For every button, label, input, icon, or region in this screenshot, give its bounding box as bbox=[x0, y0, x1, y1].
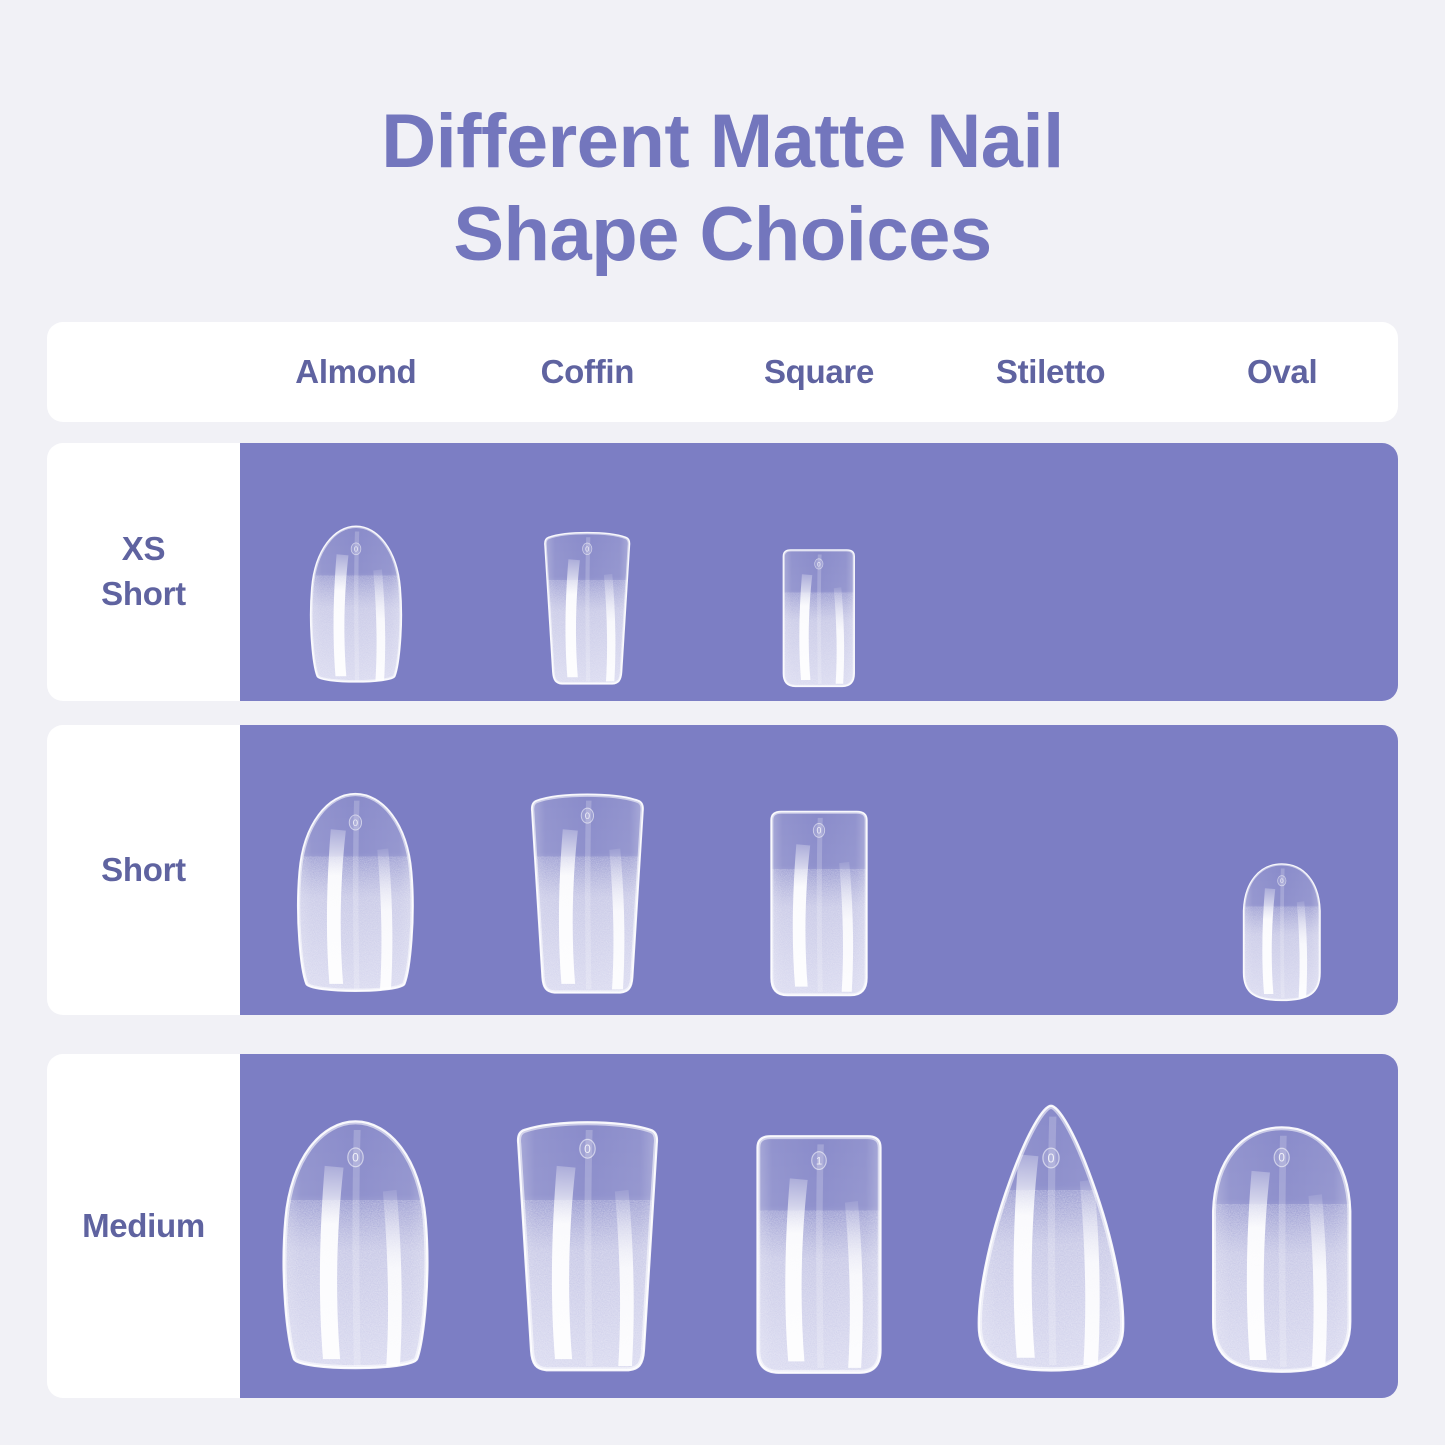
row-panel-medium: 0 bbox=[240, 1054, 1398, 1398]
cell-xs-short-almond[interactable]: 0 bbox=[240, 443, 472, 701]
nail-tip-oval[interactable]: 0 bbox=[1235, 862, 1329, 1002]
svg-text:0: 0 bbox=[354, 545, 358, 554]
svg-text:0: 0 bbox=[817, 826, 822, 836]
nail-tip-graphic-square: 0 bbox=[772, 548, 866, 688]
size-row-xs-short: XS Short bbox=[47, 443, 1398, 701]
cell-short-stiletto bbox=[935, 725, 1167, 1015]
nail-tip-graphic-coffin: 0 bbox=[519, 791, 656, 996]
nail-tip-graphic-oval: 0 bbox=[1235, 862, 1329, 1002]
nail-size-marker: 0 bbox=[813, 823, 824, 837]
cell-medium-coffin[interactable]: 0 bbox=[472, 1054, 704, 1398]
cell-xs-short-stiletto bbox=[935, 443, 1167, 701]
nail-size-marker: 0 bbox=[1278, 876, 1286, 886]
nail-tip-square[interactable]: 0 bbox=[756, 809, 882, 998]
cell-short-almond[interactable]: 0 bbox=[240, 725, 472, 1015]
nail-size-marker: 1 bbox=[812, 1152, 827, 1170]
nail-tip-graphic-stiletto: 0 bbox=[961, 1104, 1141, 1374]
nail-tip-graphic-coffin: 0 bbox=[502, 1118, 673, 1375]
cell-medium-oval[interactable]: 0 bbox=[1166, 1054, 1398, 1398]
row-label-xs-short: XS Short bbox=[101, 527, 186, 616]
cell-medium-square[interactable]: 1 bbox=[703, 1054, 935, 1398]
column-header-square: Square bbox=[703, 353, 935, 391]
nail-tip-almond[interactable]: 0 bbox=[287, 791, 424, 996]
nail-tip-graphic-square: 0 bbox=[756, 809, 882, 998]
row-label-card-medium: Medium bbox=[47, 1054, 240, 1398]
cell-xs-short-oval bbox=[1166, 443, 1398, 701]
page-title-line-2: Shape Choices bbox=[0, 189, 1445, 282]
nail-size-marker: 0 bbox=[348, 1148, 363, 1167]
column-header-stiletto: Stiletto bbox=[935, 353, 1167, 391]
nail-size-marker: 0 bbox=[351, 543, 361, 555]
nail-tip-graphic-square: 1 bbox=[738, 1133, 900, 1376]
row-label-short: Short bbox=[101, 848, 186, 893]
svg-text:0: 0 bbox=[1279, 1152, 1286, 1165]
nail-size-marker: 0 bbox=[583, 543, 592, 554]
cell-short-square[interactable]: 0 bbox=[703, 725, 935, 1015]
cell-xs-short-square[interactable]: 0 bbox=[703, 443, 935, 701]
nail-tip-graphic-almond: 0 bbox=[270, 1118, 441, 1375]
nail-size-marker: 0 bbox=[581, 808, 593, 823]
row-panel-xs-short: 0 bbox=[240, 443, 1398, 701]
column-header-almond: Almond bbox=[240, 353, 472, 391]
cell-xs-short-coffin[interactable]: 0 bbox=[472, 443, 704, 701]
shape-header-card: Almond Coffin Square Stiletto Oval bbox=[47, 322, 1398, 422]
svg-text:0: 0 bbox=[1047, 1151, 1054, 1165]
row-panel-short: 0 bbox=[240, 725, 1398, 1015]
svg-text:0: 0 bbox=[584, 1142, 591, 1156]
nail-tip-graphic-coffin: 0 bbox=[535, 530, 639, 687]
nail-shape-chart-page: Different Matte Nail Shape Choices Almon… bbox=[0, 0, 1445, 1445]
svg-text:0: 0 bbox=[353, 818, 358, 829]
nail-size-marker: 0 bbox=[350, 815, 362, 830]
cell-short-coffin[interactable]: 0 bbox=[472, 725, 704, 1015]
column-header-coffin: Coffin bbox=[472, 353, 704, 391]
cell-short-oval[interactable]: 0 bbox=[1166, 725, 1398, 1015]
row-label-medium: Medium bbox=[82, 1204, 205, 1249]
nail-tip-graphic-almond: 0 bbox=[302, 524, 410, 686]
nail-size-marker: 0 bbox=[1042, 1148, 1058, 1168]
column-header-oval: Oval bbox=[1166, 353, 1398, 391]
nail-tip-graphic-almond: 0 bbox=[287, 791, 424, 996]
size-row-medium: Medium bbox=[47, 1054, 1398, 1398]
svg-text:0: 0 bbox=[352, 1151, 359, 1165]
svg-text:0: 0 bbox=[1280, 878, 1284, 885]
size-row-short: Short bbox=[47, 725, 1398, 1015]
nail-tip-coffin[interactable]: 0 bbox=[535, 530, 639, 687]
nail-tip-square[interactable]: 0 bbox=[772, 548, 866, 688]
svg-text:1: 1 bbox=[816, 1156, 822, 1168]
nail-tip-almond[interactable]: 0 bbox=[270, 1118, 441, 1375]
nail-tip-graphic-oval: 0 bbox=[1198, 1124, 1365, 1375]
nail-tip-stiletto[interactable]: 0 bbox=[961, 1104, 1141, 1374]
nail-size-marker: 0 bbox=[1275, 1149, 1290, 1167]
page-title-line-1: Different Matte Nail bbox=[0, 96, 1445, 189]
nail-tip-almond[interactable]: 0 bbox=[302, 524, 410, 686]
cell-medium-stiletto[interactable]: 0 bbox=[935, 1054, 1167, 1398]
page-title: Different Matte Nail Shape Choices bbox=[0, 96, 1445, 281]
row-label-card-xs-short: XS Short bbox=[47, 443, 240, 701]
nail-tip-coffin[interactable]: 0 bbox=[502, 1118, 673, 1375]
cell-medium-almond[interactable]: 0 bbox=[240, 1054, 472, 1398]
nail-size-marker: 0 bbox=[580, 1140, 595, 1159]
nail-size-marker: 0 bbox=[815, 559, 823, 569]
svg-text:0: 0 bbox=[817, 561, 821, 568]
nail-tip-square[interactable]: 1 bbox=[738, 1133, 900, 1376]
svg-text:0: 0 bbox=[585, 545, 589, 554]
row-label-card-short: Short bbox=[47, 725, 240, 1015]
nail-tip-coffin[interactable]: 0 bbox=[519, 791, 656, 996]
svg-text:0: 0 bbox=[585, 811, 590, 822]
nail-tip-oval[interactable]: 0 bbox=[1198, 1124, 1365, 1375]
